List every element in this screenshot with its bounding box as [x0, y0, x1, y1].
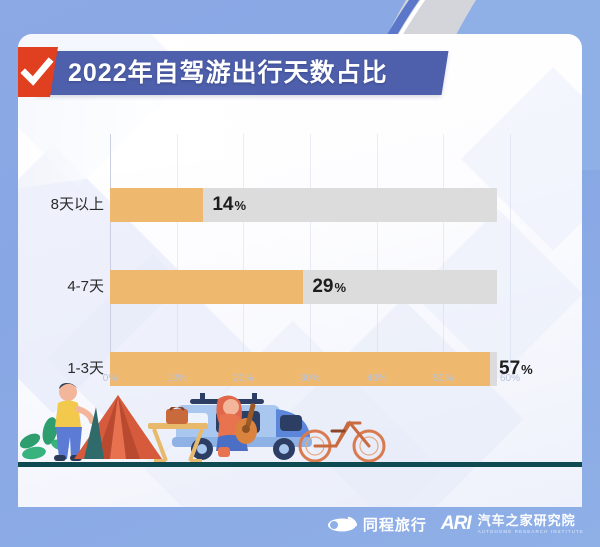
- y-axis-line: [110, 134, 111, 368]
- check-icon: [20, 56, 54, 90]
- page-title: 2022年自驾游出行天数占比: [68, 52, 388, 94]
- gridline: [177, 134, 178, 368]
- infographic-poster: 2022年自驾游出行天数占比 14%29%57% 8天以上4-7天1-3天 0%…: [0, 0, 600, 547]
- ari-name-en: AUTOHOME RESEARCH INSTITUTE: [478, 530, 584, 535]
- gridline: [243, 134, 244, 368]
- bicycle-icon: [298, 409, 386, 465]
- gridline: [443, 134, 444, 368]
- category-label: 4-7天: [18, 270, 104, 304]
- bar-fill: [110, 188, 203, 222]
- guitar-person-icon: [204, 393, 270, 463]
- bar-chart: 14%29%57% 8天以上4-7天1-3天 0%10%20%30%40%50%…: [18, 130, 582, 400]
- content-card: 2022年自驾游出行天数占比 14%29%57% 8天以上4-7天1-3天 0%…: [18, 34, 582, 507]
- table-icon: [146, 407, 210, 463]
- camping-illustration: [18, 371, 582, 467]
- ground-line: [18, 462, 582, 467]
- ari-name-cn: 汽车之家研究院: [478, 514, 584, 527]
- gridline: [377, 134, 378, 368]
- gridline: [510, 134, 511, 368]
- tongcheng-logo-icon: [327, 516, 357, 533]
- footer: 同程旅行 ARI 汽车之家研究院 AUTOHOME RESEARCH INSTI…: [0, 507, 600, 547]
- brand-tongcheng: 同程旅行: [327, 514, 427, 535]
- bar-value-label: 29%: [312, 270, 346, 304]
- ari-logo: ARI: [441, 513, 471, 535]
- gridline: [310, 134, 311, 368]
- bar-value-label: 14%: [212, 188, 246, 222]
- brand-ari: ARI 汽车之家研究院 AUTOHOME RESEARCH INSTITUTE: [441, 513, 584, 535]
- category-label: 8天以上: [18, 188, 104, 222]
- brand-tongcheng-label: 同程旅行: [363, 514, 427, 535]
- bar-fill: [110, 270, 303, 304]
